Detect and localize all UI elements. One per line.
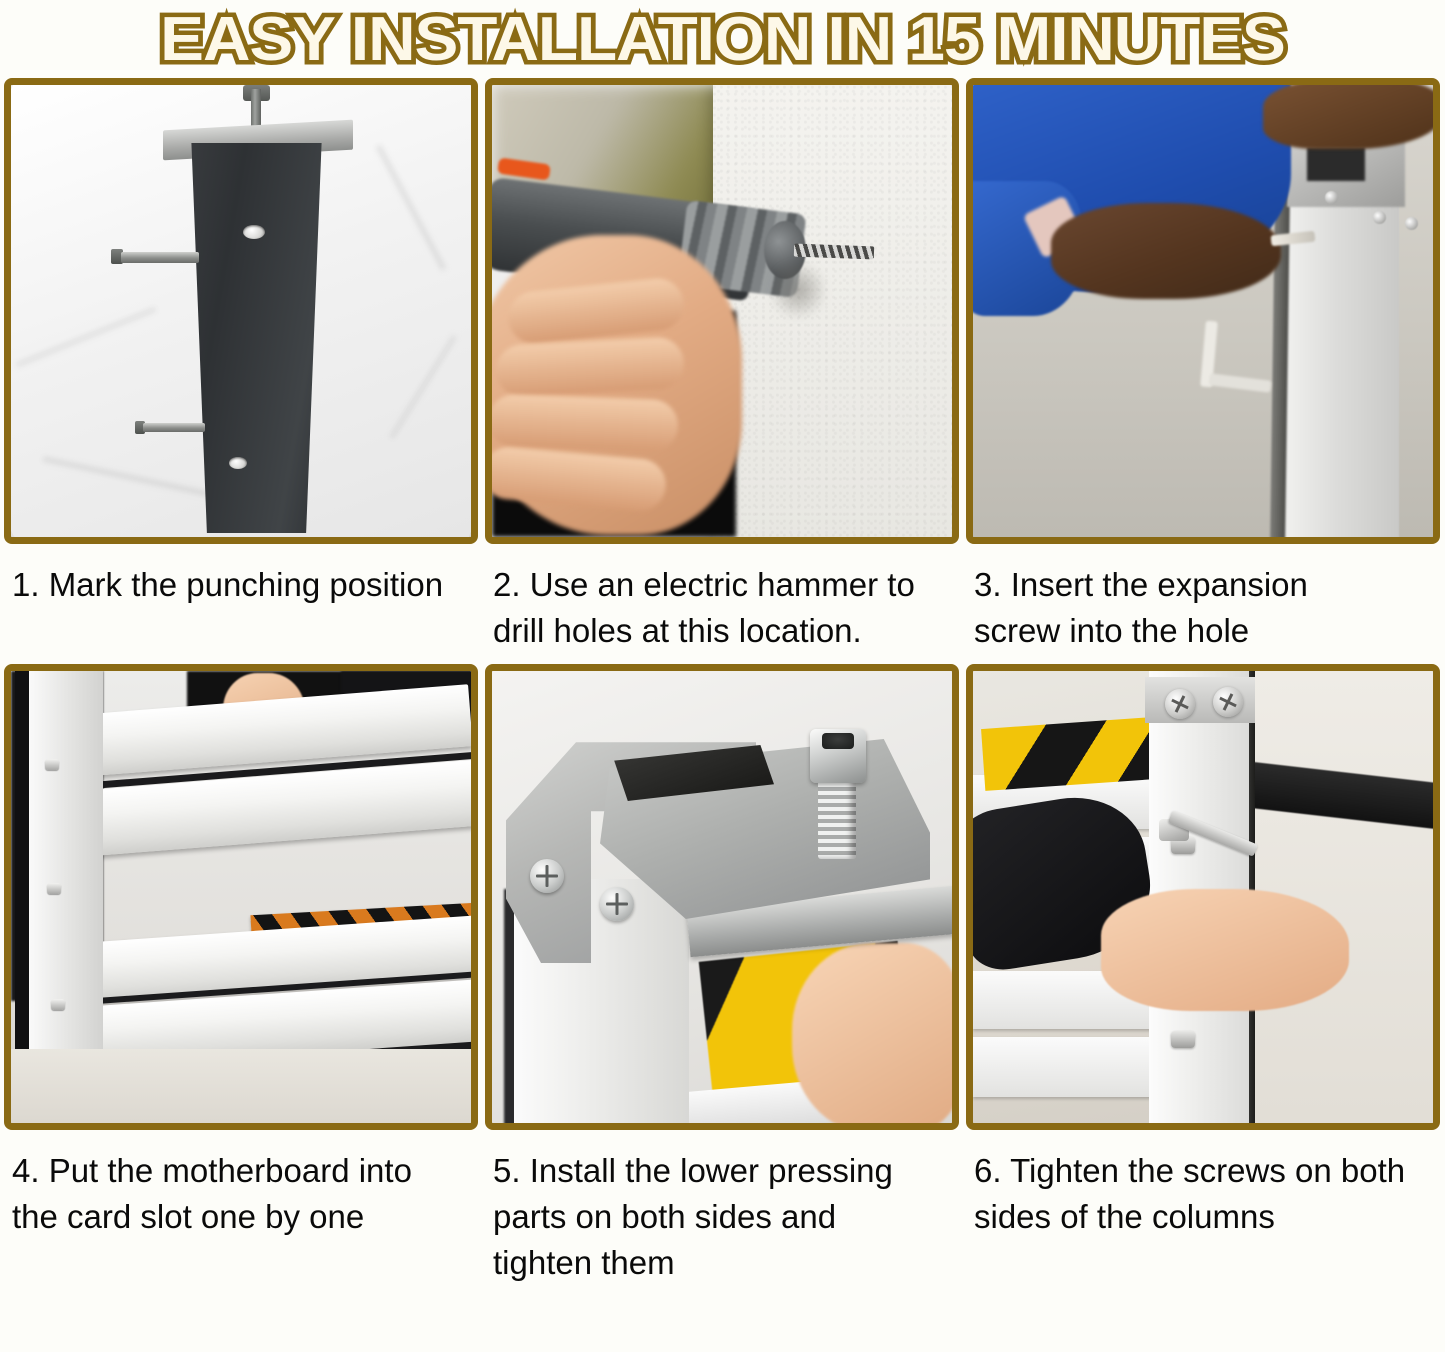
cross-head-screw [1213, 687, 1243, 717]
caption-line: 4. Put the motherboard into [12, 1148, 472, 1194]
bracket-screw [1405, 217, 1418, 230]
caption-line: 1. Mark the punching position [12, 562, 472, 608]
scene-mark-punching-position [11, 85, 471, 537]
hazard-stripe-panel [981, 717, 1157, 791]
step-2-photo-frame [485, 78, 959, 544]
step-3-caption: 3. Insert the expansion screw into the h… [966, 544, 1440, 664]
installer-hand [1101, 889, 1349, 1011]
scene-install-lower-pressing-parts [492, 671, 952, 1123]
barrier-board [973, 1037, 1159, 1097]
caption-line: parts on both sides and [493, 1194, 953, 1240]
marking-hole-lower [229, 457, 247, 469]
step-card-1: 1. Mark the punching position [4, 78, 478, 664]
scene-tighten-screws-on-columns [973, 671, 1433, 1123]
floor-surface [11, 1049, 471, 1123]
column-screw [47, 883, 61, 894]
finger [492, 394, 679, 453]
step-4-caption: 4. Put the motherboard into the card slo… [4, 1130, 478, 1250]
expansion-stud-lower [143, 423, 205, 432]
step-1-caption: 1. Mark the punching position [4, 544, 478, 664]
column-screw [51, 999, 65, 1010]
caption-line: 5. Install the lower pressing [493, 1148, 953, 1194]
caption-line: screw into the hole [974, 608, 1434, 654]
side-bolt [1171, 1031, 1195, 1048]
step-3-photo-frame [966, 78, 1440, 544]
cross-head-screw [600, 887, 634, 921]
scene-insert-boards-into-slot [11, 671, 471, 1123]
caption-line: 3. Insert the expansion [974, 562, 1434, 608]
bracket-screw [1373, 211, 1386, 224]
hex-bolt-socket [822, 733, 854, 749]
caption-line: 6. Tighten the screws on both [974, 1148, 1434, 1194]
step-6-caption: 6. Tighten the screws on both sides of t… [966, 1130, 1440, 1250]
caption-line: drill holes at this location. [493, 608, 953, 654]
scene-insert-expansion-screw [973, 85, 1433, 537]
hex-bolt-thread [818, 775, 856, 859]
cross-head-screw [1165, 689, 1195, 719]
worker-forearm [1051, 203, 1281, 299]
step-card-5: 5. Install the lower pressing parts on b… [485, 664, 959, 1294]
marking-hole-upper [243, 225, 265, 239]
step-card-2: 2. Use an electric hammer to drill holes… [485, 78, 959, 664]
caption-line: tighten them [493, 1240, 953, 1286]
drill-dust-cloud [768, 261, 828, 319]
step-6-photo-frame [966, 664, 1440, 1130]
textured-white-wall [713, 85, 952, 537]
column-screw [45, 759, 59, 770]
installer-hand [792, 943, 952, 1123]
step-5-photo-frame [485, 664, 959, 1130]
caption-line: sides of the columns [974, 1194, 1434, 1240]
worker-upper-hand [1263, 85, 1433, 149]
scene-drill-holes [492, 85, 952, 537]
expansion-stud-upper [121, 252, 199, 263]
step-card-4: 4. Put the motherboard into the card slo… [4, 664, 478, 1294]
column-slot-opening [1307, 147, 1365, 181]
step-5-caption: 5. Install the lower pressing parts on b… [485, 1130, 959, 1294]
finger [495, 336, 685, 398]
step-1-photo-frame [4, 78, 478, 544]
caption-line: 2. Use an electric hammer to [493, 562, 953, 608]
bracket-screw [1325, 191, 1338, 204]
cross-head-screw [530, 859, 564, 893]
step-2-caption: 2. Use an electric hammer to drill holes… [485, 544, 959, 664]
installation-steps-grid: 1. Mark the punching position [0, 78, 1445, 1294]
page-title: EASY INSTALLATION IN 15 MINUTES [160, 9, 1285, 71]
step-card-6: 6. Tighten the screws on both sides of t… [966, 664, 1440, 1294]
caption-line: the card slot one by one [12, 1194, 472, 1240]
step-card-3: 3. Insert the expansion screw into the h… [966, 78, 1440, 664]
step-4-photo-frame [4, 664, 478, 1130]
column-card-slot-post [29, 671, 103, 1061]
masonry-drill-bit [794, 244, 874, 260]
title-bar: EASY INSTALLATION IN 15 MINUTES [0, 0, 1445, 78]
